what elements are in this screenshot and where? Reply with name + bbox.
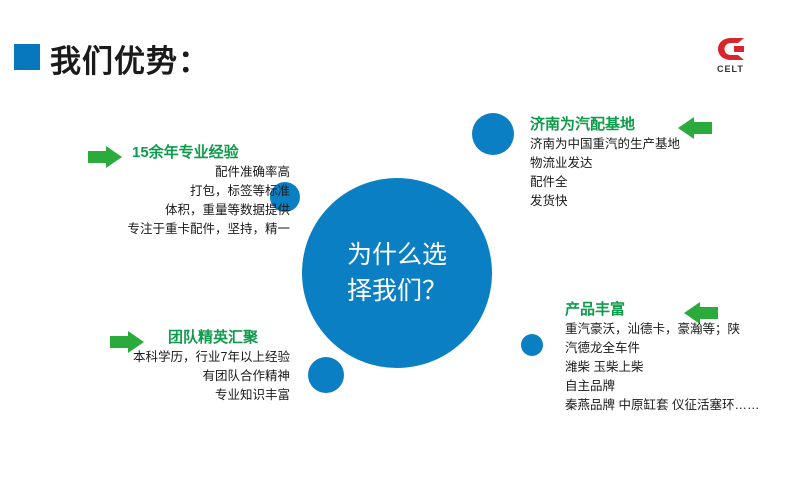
node-dot-base — [472, 113, 514, 155]
block-team-heading: 团队精英汇聚 — [168, 328, 290, 348]
logo-text: CELT — [717, 64, 744, 74]
celt-logo-icon — [716, 36, 746, 62]
block-base: 济南为汽配基地 济南为中国重汽的生产基地 物流业发达 配件全 发货快 — [530, 115, 780, 211]
block-team-body: 本科学历，行业7年以上经验 有团队合作精神 专业知识丰富 — [58, 348, 290, 405]
block-experience-body: 配件准确率高 打包，标签等标准 体积，重量等数据提供 专注于重卡配件，坚持，精一 — [60, 163, 290, 239]
block-base-heading: 济南为汽配基地 — [530, 115, 780, 135]
logo: CELT — [716, 36, 782, 80]
block-products: 产品丰富 重汽豪沃，汕德卡，豪瀚等；陕 汽德龙全车件 潍柴 玉柴上柴 自主品牌 … — [565, 300, 800, 415]
title-bullet-square — [14, 44, 40, 70]
block-experience-heading: 15余年专业经验 — [132, 143, 290, 163]
block-base-body: 济南为中国重汽的生产基地 物流业发达 配件全 发货快 — [530, 135, 780, 211]
block-products-heading: 产品丰富 — [565, 300, 800, 320]
page-title: 我们优势： — [50, 36, 210, 81]
slide-canvas: 我们优势： CELT 为什么选 择我们？ 15余年专业经验 配件准确率高 打包，… — [0, 0, 800, 480]
center-circle: 为什么选 择我们？ — [302, 178, 492, 368]
block-team: 团队精英汇聚 本科学历，行业7年以上经验 有团队合作精神 专业知识丰富 — [58, 328, 290, 405]
node-dot-products — [521, 334, 543, 356]
block-products-body: 重汽豪沃，汕德卡，豪瀚等；陕 汽德龙全车件 潍柴 玉柴上柴 自主品牌 秦燕品牌 … — [565, 320, 800, 415]
block-experience: 15余年专业经验 配件准确率高 打包，标签等标准 体积，重量等数据提供 专注于重… — [60, 143, 290, 239]
center-circle-label: 为什么选 择我们？ — [332, 237, 462, 309]
node-dot-team — [308, 357, 344, 393]
